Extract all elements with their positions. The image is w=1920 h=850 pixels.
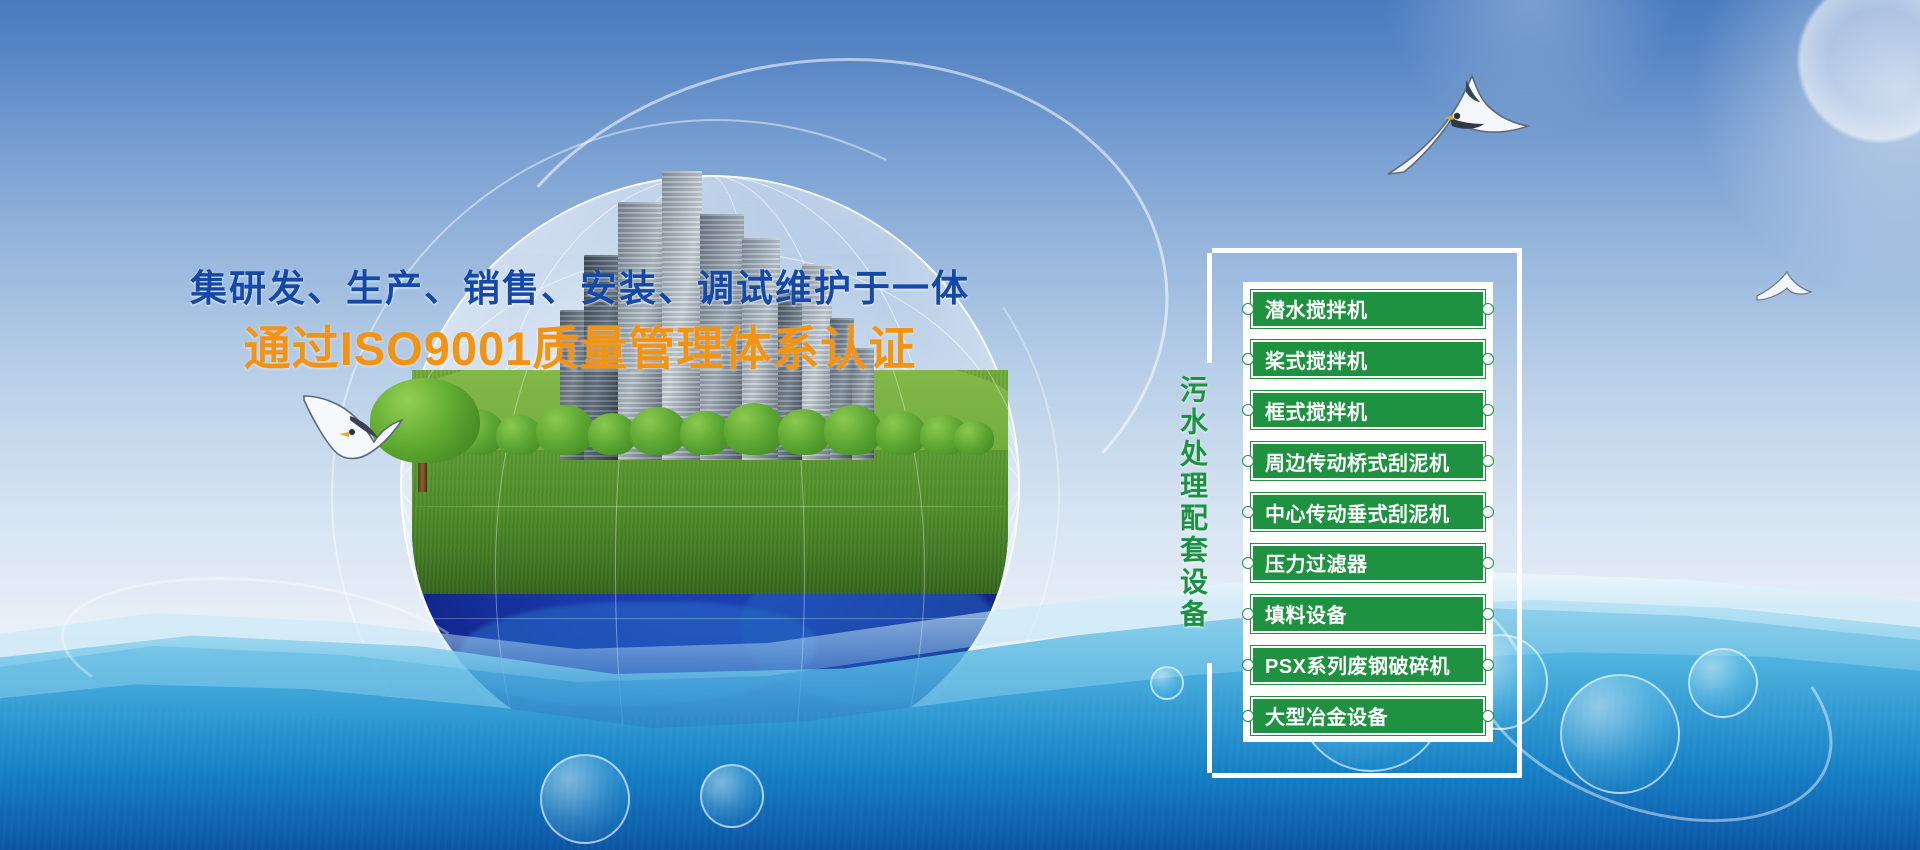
- list-item-label: PSX系列废钢破碎机: [1265, 650, 1450, 679]
- connector-knob-right-icon: [1482, 608, 1494, 620]
- connector-knob-left-icon: [1242, 557, 1254, 569]
- tree-icon: [680, 411, 730, 455]
- connector-knob-left-icon: [1242, 608, 1254, 620]
- page-title: 集研发、生产、销售、安装、调试维护于一体: [0, 258, 1160, 312]
- seagull-icon: [300, 370, 420, 466]
- list-item[interactable]: 压力过滤器: [1251, 544, 1485, 582]
- connector-knob-right-icon: [1482, 353, 1494, 365]
- list-item-label: 潜水搅拌机: [1265, 294, 1368, 323]
- list-item[interactable]: 潜水搅拌机: [1251, 290, 1485, 328]
- list-item[interactable]: 大型冶金设备: [1251, 697, 1485, 735]
- bubble-icon: [700, 764, 764, 828]
- connector-knob-right-icon: [1482, 303, 1494, 315]
- tree-icon: [954, 421, 994, 455]
- list-item-label: 框式搅拌机: [1265, 396, 1368, 425]
- connector-knob-right-icon: [1482, 557, 1494, 569]
- tree-icon: [724, 403, 784, 455]
- connector-knob-right-icon: [1482, 455, 1494, 467]
- connector-knob-right-icon: [1482, 659, 1494, 671]
- bubble-icon: [540, 754, 630, 844]
- tree-icon: [588, 413, 636, 455]
- page-subtitle: 通过ISO9001质量管理体系认证: [0, 310, 1160, 379]
- tree-icon: [536, 405, 594, 455]
- connector-knob-left-icon: [1242, 404, 1254, 416]
- connector-knob-left-icon: [1242, 710, 1254, 722]
- list-item-label: 压力过滤器: [1265, 548, 1368, 577]
- seagull-icon: [1380, 62, 1530, 182]
- list-item[interactable]: 桨式搅拌机: [1251, 340, 1485, 378]
- connector-knob-left-icon: [1242, 303, 1254, 315]
- list-item[interactable]: 填料设备: [1251, 595, 1485, 633]
- connector-knob-left-icon: [1242, 353, 1254, 365]
- tree-icon: [630, 407, 686, 455]
- list-item[interactable]: 周边传动桥式刮泥机: [1251, 442, 1485, 480]
- tree-icon: [778, 409, 830, 455]
- connector-knob-right-icon: [1482, 710, 1494, 722]
- list-item-label: 中心传动垂式刮泥机: [1265, 498, 1450, 527]
- list-item[interactable]: 中心传动垂式刮泥机: [1251, 493, 1485, 531]
- tree-icon: [876, 411, 926, 455]
- connector-knob-left-icon: [1242, 455, 1254, 467]
- water-waves: [0, 520, 1920, 850]
- connector-knob-left-icon: [1242, 659, 1254, 671]
- connector-knob-right-icon: [1482, 404, 1494, 416]
- connector-knob-right-icon: [1482, 506, 1494, 518]
- tree-line: [430, 385, 990, 455]
- promo-banner: 集研发、生产、销售、安装、调试维护于一体 通过ISO9001质量管理体系认证 污…: [0, 0, 1920, 850]
- panel-vertical-label: 污水处理配套设备: [1160, 375, 1206, 631]
- bubble-icon: [1150, 666, 1184, 700]
- list-item-label: 大型冶金设备: [1265, 701, 1388, 730]
- list-item-label: 周边传动桥式刮泥机: [1265, 447, 1450, 476]
- list-item[interactable]: PSX系列废钢破碎机: [1251, 646, 1485, 684]
- list-item-label: 桨式搅拌机: [1265, 345, 1368, 374]
- product-list: 潜水搅拌机 桨式搅拌机 框式搅拌机 周边传动桥式刮泥机 中心传动垂式刮泥机 压力…: [1243, 282, 1493, 742]
- tree-icon: [824, 405, 882, 455]
- list-item-label: 填料设备: [1265, 599, 1347, 628]
- seagull-icon: [1755, 262, 1823, 304]
- connector-knob-left-icon: [1242, 506, 1254, 518]
- list-item[interactable]: 框式搅拌机: [1251, 391, 1485, 429]
